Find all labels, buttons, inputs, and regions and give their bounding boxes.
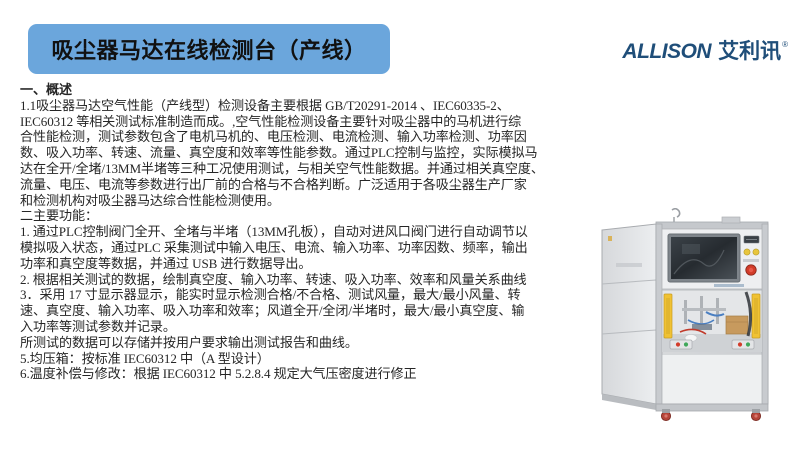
text-line: 5.均压箱：按标准 IEC60312 中（A 型设计） bbox=[20, 351, 598, 367]
text-line: 6.温度补偿与修改：根据 IEC60312 中 5.2.8.4 规定大气压密度进… bbox=[20, 366, 598, 382]
text-line: 2. 根据相关测试的数据，绘制真空度、输入功率、转速、吸入功率、效率和风量关系曲… bbox=[20, 272, 598, 288]
text-line: 所测试的数据可以存储并按用户要求输出测试报告和曲线。 bbox=[20, 335, 598, 351]
text-line: 二主要功能： bbox=[20, 208, 598, 224]
text-line: 一、概述 bbox=[20, 82, 598, 98]
page-title: 吸尘器马达在线检测台（产线） bbox=[51, 33, 366, 65]
slide-page: 吸尘器马达在线检测台（产线） ALLISON 艾利讯 ® 一、概述 1.1吸尘器… bbox=[0, 0, 800, 450]
text-line: 合性能检测，测试参数包含了电机马机的、电压检测、电流检测、输入功率检测、功率因 bbox=[20, 129, 598, 145]
text-line: 模拟吸入状态，通过PLC 采集测试中输入电压、电流、输入功率、功率因数、频率，输… bbox=[20, 240, 598, 256]
text-line: 1. 通过PLC控制阀门全开、全堵与半堵（13MM孔板），自动对进风口阀门进行自… bbox=[20, 224, 598, 240]
text-line: 和检测机构对吸尘器马达综合性能检测使用。 bbox=[20, 193, 598, 209]
text-line: 3．采用 17 寸显示器显示，能实时显示检测合格/不合格、测试风量，最大/最小风… bbox=[20, 287, 598, 303]
body-text-block: 一、概述 1.1吸尘器马达空气性能（产线型）检测设备主要根据 GB/T20291… bbox=[20, 82, 598, 382]
machine-illustration bbox=[596, 208, 796, 428]
logo-chinese-text: 艾利讯 bbox=[718, 40, 781, 64]
text-line: 数、吸入功率、转速、流量、真空度和效率等性能参数。通过PLC控制与监控，实际模拟… bbox=[20, 145, 598, 161]
registered-trademark-icon: ® bbox=[782, 40, 788, 50]
slide-title-banner: 吸尘器马达在线检测台（产线） bbox=[28, 24, 390, 74]
text-line: 速、真空度、输入功率、吸入功率和效率；风道全开/全闭/半堵时，最大/最小真空度、… bbox=[20, 303, 598, 319]
text-line: 流量、电压、电流等参数进行出厂前的合格与不合格判断。广泛适用于各吸尘器生产厂家 bbox=[20, 177, 598, 193]
text-line: 功率和真空度等数据，并通过 USB 进行数据导出。 bbox=[20, 256, 598, 272]
equipment-photo bbox=[596, 208, 796, 428]
text-line: 1.1吸尘器马达空气性能（产线型）检测设备主要根据 GB/T20291-2014… bbox=[20, 98, 598, 114]
company-logo: ALLISON 艾利讯 ® bbox=[622, 40, 788, 68]
text-line: 达在全开/全堵/13MM半堵等三种工况使用测试，与相关空气性能数据。并通过相关真… bbox=[20, 161, 598, 177]
text-line: IEC60312 等相关测试标准制造而成。,空气性能检测设备主要针对吸尘器中的马… bbox=[20, 114, 598, 130]
text-line: 入功率等测试参数并记录。 bbox=[20, 319, 598, 335]
logo-latin-text: ALLISON bbox=[622, 40, 711, 64]
